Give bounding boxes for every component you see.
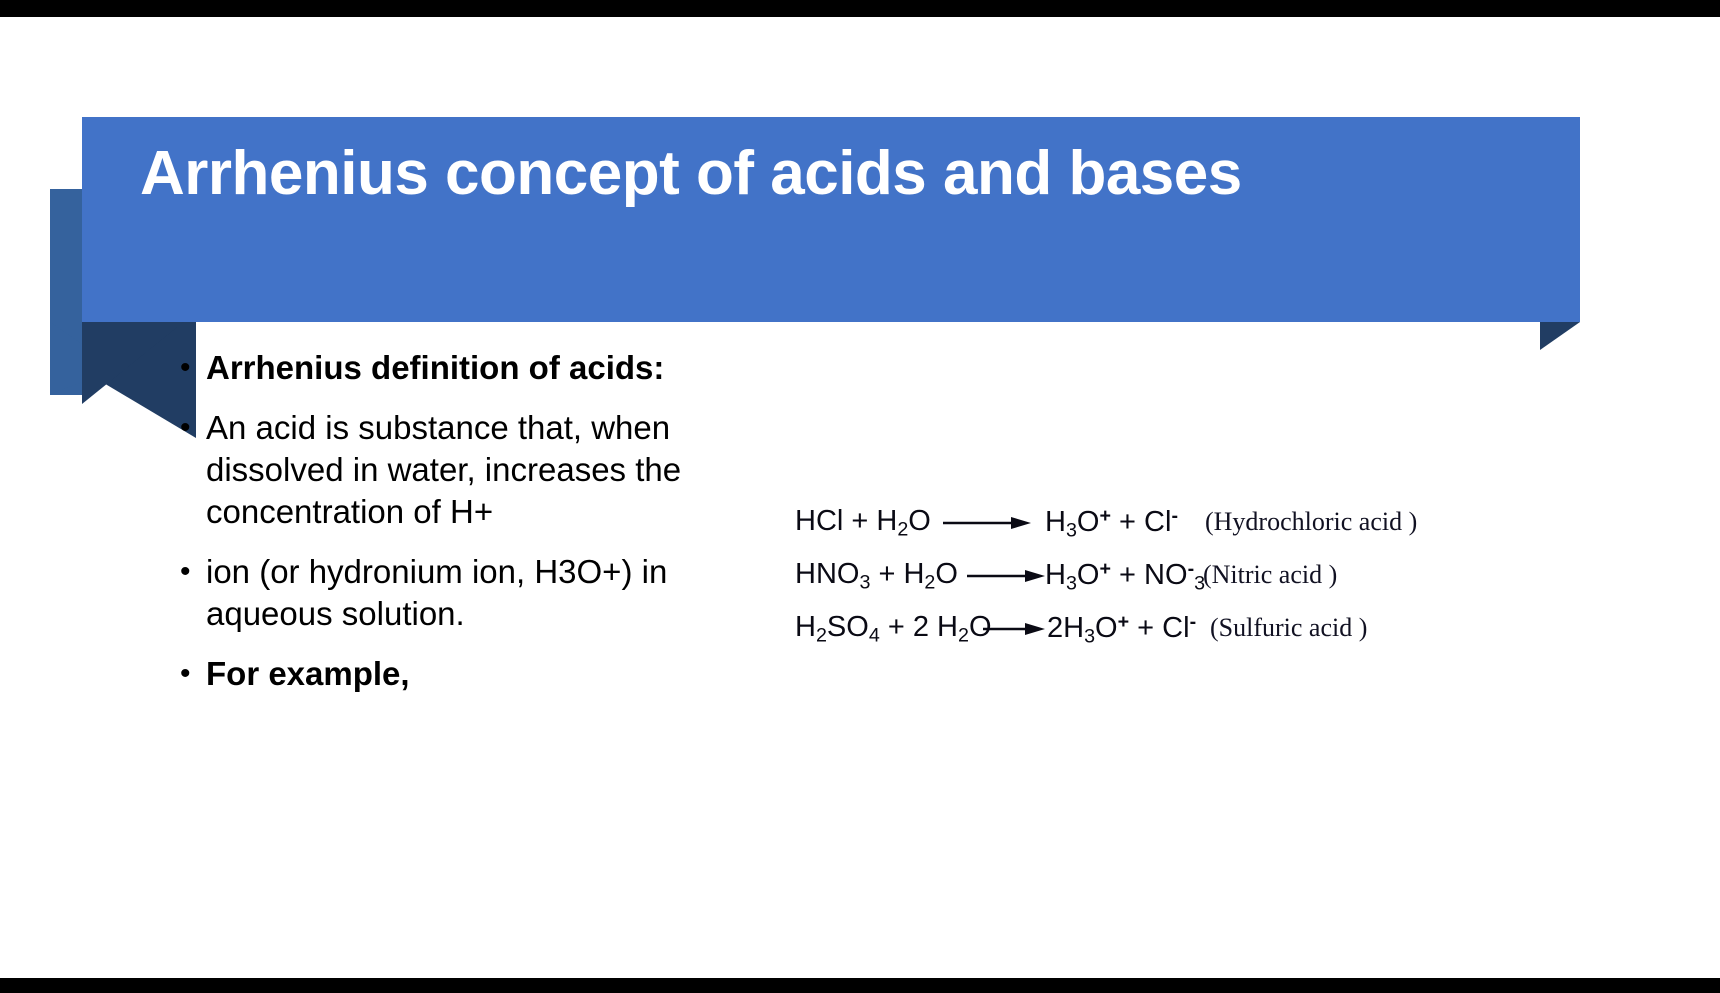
reaction-arrow-icon [983,613,1047,639]
reaction-arrow-icon [941,507,1033,533]
letterbox-top [0,0,1720,17]
list-item: • An acid is substance that, when dissol… [180,407,740,533]
list-item: • Arrhenius definition of acids: [180,347,740,389]
bullet-list: • Arrhenius definition of acids: • An ac… [180,347,740,713]
ribbon-shadow-right [1540,322,1580,350]
reaction-equations: HCl + H2O H3O+ + Cl- (Hydrochloric acid … [795,505,1575,664]
bullet-text: For example, [206,653,410,695]
list-item: • For example, [180,653,740,695]
equation-label: (Sulfuric acid ) [1210,613,1367,643]
reaction-arrow-icon [967,560,1047,586]
letterbox-bottom [0,978,1720,993]
equation-products: 2H3O+ + Cl- [1047,611,1196,648]
equation-products: H3O+ + NO-3 [1045,558,1205,595]
bullet-marker-icon: • [180,551,206,593]
list-item: • ion (or hydronium ion, H3O+) in aqueou… [180,551,740,635]
page-title: Arrhenius concept of acids and bases [140,139,1540,209]
bullet-marker-icon: • [180,347,206,389]
ribbon-banner: Arrhenius concept of acids and bases [0,17,1720,367]
equation-reactants: H2SO4 + 2 H2O [795,611,992,648]
slide-canvas: Arrhenius concept of acids and bases • A… [0,17,1720,978]
bullet-text: Arrhenius definition of acids: [206,347,664,389]
equation-products: H3O+ + Cl- [1045,505,1178,542]
equation-row: HNO3 + H2O H3O+ + NO-3 (Nitric acid ) [795,558,1575,611]
bullet-text: ion (or hydronium ion, H3O+) in aqueous … [206,551,740,635]
bullet-marker-icon: • [180,653,206,695]
bullet-marker-icon: • [180,407,206,449]
equation-reactants: HNO3 + H2O [795,558,958,595]
equation-label: (Hydrochloric acid ) [1205,507,1417,537]
equation-row: H2SO4 + 2 H2O 2H3O+ + Cl- (Sulfuric acid… [795,611,1575,664]
equation-label: (Nitric acid ) [1203,560,1337,590]
equation-row: HCl + H2O H3O+ + Cl- (Hydrochloric acid … [795,505,1575,558]
equation-reactants: HCl + H2O [795,505,931,542]
bullet-text: An acid is substance that, when dissolve… [206,407,740,533]
